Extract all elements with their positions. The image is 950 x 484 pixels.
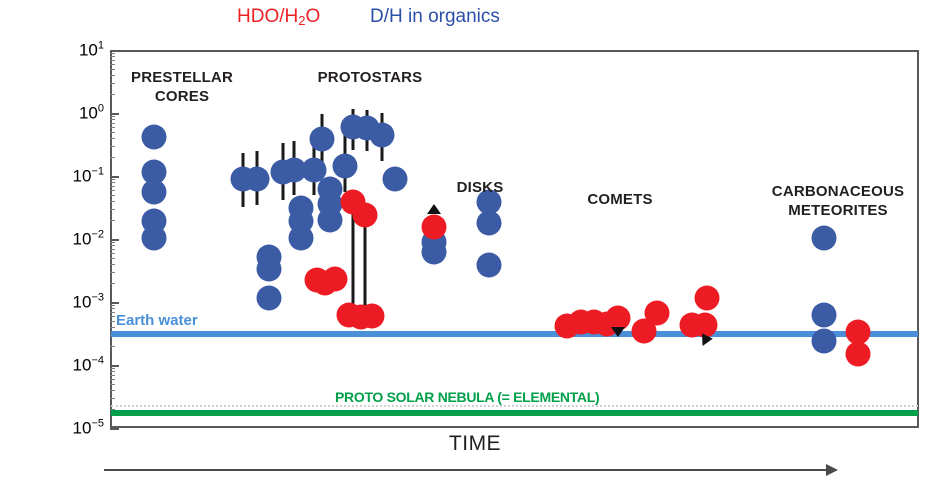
y-tick-minor [110,308,115,309]
y-tick-minor [110,272,115,273]
y-tick-minor [110,283,115,284]
y-tick-minor [110,186,115,187]
y-tick-label: 10−2 [73,229,104,250]
data-point-blue [142,225,167,250]
data-point-blue [811,329,836,354]
y-tick-minor [110,242,115,243]
region-label-line: CARBONACEOUS [772,182,904,201]
y-tick-minor [110,316,115,317]
y-tick-minor [110,146,115,147]
y-tick-minor [110,182,115,183]
y-tick-minor [110,64,115,65]
limit-arrow-down-icon [611,327,625,337]
y-tick-minor [110,253,115,254]
region-label-line: DISKS [457,178,504,197]
y-tick-minor [110,390,115,391]
time-arrow-line [104,469,828,471]
earth-water-line [111,331,918,337]
y-tick-minor [110,56,115,57]
y-tick-minor [110,195,115,196]
y-tick-minor [110,209,115,210]
chart-area: [XD]/[XH] 10110010−110−210−310−410−5 Ear… [0,0,950,484]
proto-solar-nebula-line [111,410,918,416]
data-point-blue [332,153,357,178]
y-tick-minor [110,119,115,120]
region-label-line: PROTOSTARS [318,68,423,87]
time-arrow-head-icon [826,464,838,476]
y-tick-minor [110,305,115,306]
y-tick-minor [110,327,115,328]
y-tick-label: 10−4 [73,355,104,376]
region-label-disks: DISKS [457,178,504,197]
y-tick-minor [110,116,115,117]
proto-solar-nebula-label: PROTO SOLAR NEBULA (= ELEMENTAL) [335,389,599,405]
y-tick-major [110,50,119,52]
region-label-line: METEORITES [772,201,904,220]
psn-dotted-guide [111,405,918,407]
y-tick-minor [110,190,115,191]
y-tick-minor [110,127,115,128]
y-tick-minor [110,398,115,399]
limit-arrow-up-icon [427,204,441,214]
y-tick-major [110,365,119,367]
data-point-blue [476,210,501,235]
y-tick-minor [110,384,115,385]
region-label-carbonaceous-meteorites: CARBONACEOUSMETEORITES [772,182,904,220]
y-tick-minor [110,379,115,380]
y-tick-minor [110,60,115,61]
region-label-prestellar-cores: PRESTELLARCORES [131,68,233,106]
data-point-blue [476,253,501,278]
data-point-red [693,313,718,338]
region-label-line: COMETS [587,190,652,209]
data-point-blue [142,180,167,205]
earth-water-label: Earth water [116,312,198,329]
data-point-blue [811,303,836,328]
data-point-red [352,203,377,228]
y-tick-minor [110,321,115,322]
y-tick-minor [110,346,115,347]
y-tick-label: 10−1 [73,166,104,187]
y-tick-minor [110,83,115,84]
y-tick-minor [110,368,115,369]
y-tick-minor [110,69,115,70]
y-tick-major [110,113,119,115]
y-tick-minor [110,371,115,372]
region-label-protostars: PROTOSTARS [318,68,423,87]
y-tick-label: 100 [79,103,104,124]
data-point-red [846,341,871,366]
y-tick-minor [110,201,115,202]
data-point-blue [318,208,343,233]
data-point-blue [142,124,167,149]
data-point-blue [369,123,394,148]
plot-frame [110,50,919,428]
data-point-red [695,286,720,311]
data-point-blue [811,225,836,250]
y-tick-minor [110,220,115,221]
data-point-red [360,303,385,328]
y-tick-minor [110,249,115,250]
data-point-blue [309,126,334,151]
y-tick-major [110,428,119,430]
y-tick-minor [110,245,115,246]
data-point-blue [421,240,446,265]
y-tick-minor [110,179,115,180]
y-tick-major [110,239,119,241]
data-point-red [846,319,871,344]
error-bar [363,215,366,317]
data-point-red [421,215,446,240]
y-tick-major [110,302,119,304]
y-tick-major [110,176,119,178]
y-tick-minor [110,123,115,124]
y-axis-tick-labels: 10110010−110−210−310−410−5 [0,0,104,484]
y-tick-label: 101 [79,40,104,61]
x-axis-title: TIME [0,432,950,456]
y-tick-minor [110,53,115,54]
region-label-comets: COMETS [587,190,652,209]
data-point-blue [256,257,281,282]
y-tick-minor [110,312,115,313]
y-tick-minor [110,132,115,133]
data-point-red [322,267,347,292]
data-point-blue [382,167,407,192]
y-tick-minor [110,75,115,76]
y-tick-label: 10−3 [73,292,104,313]
data-point-blue [256,286,281,311]
y-tick-minor [110,264,115,265]
data-point-blue [288,225,313,250]
region-label-line: PRESTELLAR [131,68,233,87]
y-tick-minor [110,94,115,95]
y-tick-minor [110,157,115,158]
y-tick-minor [110,138,115,139]
data-point-blue [245,167,270,192]
region-label-line: CORES [131,87,233,106]
y-tick-minor [110,375,115,376]
data-point-red [644,300,669,325]
y-tick-minor [110,258,115,259]
